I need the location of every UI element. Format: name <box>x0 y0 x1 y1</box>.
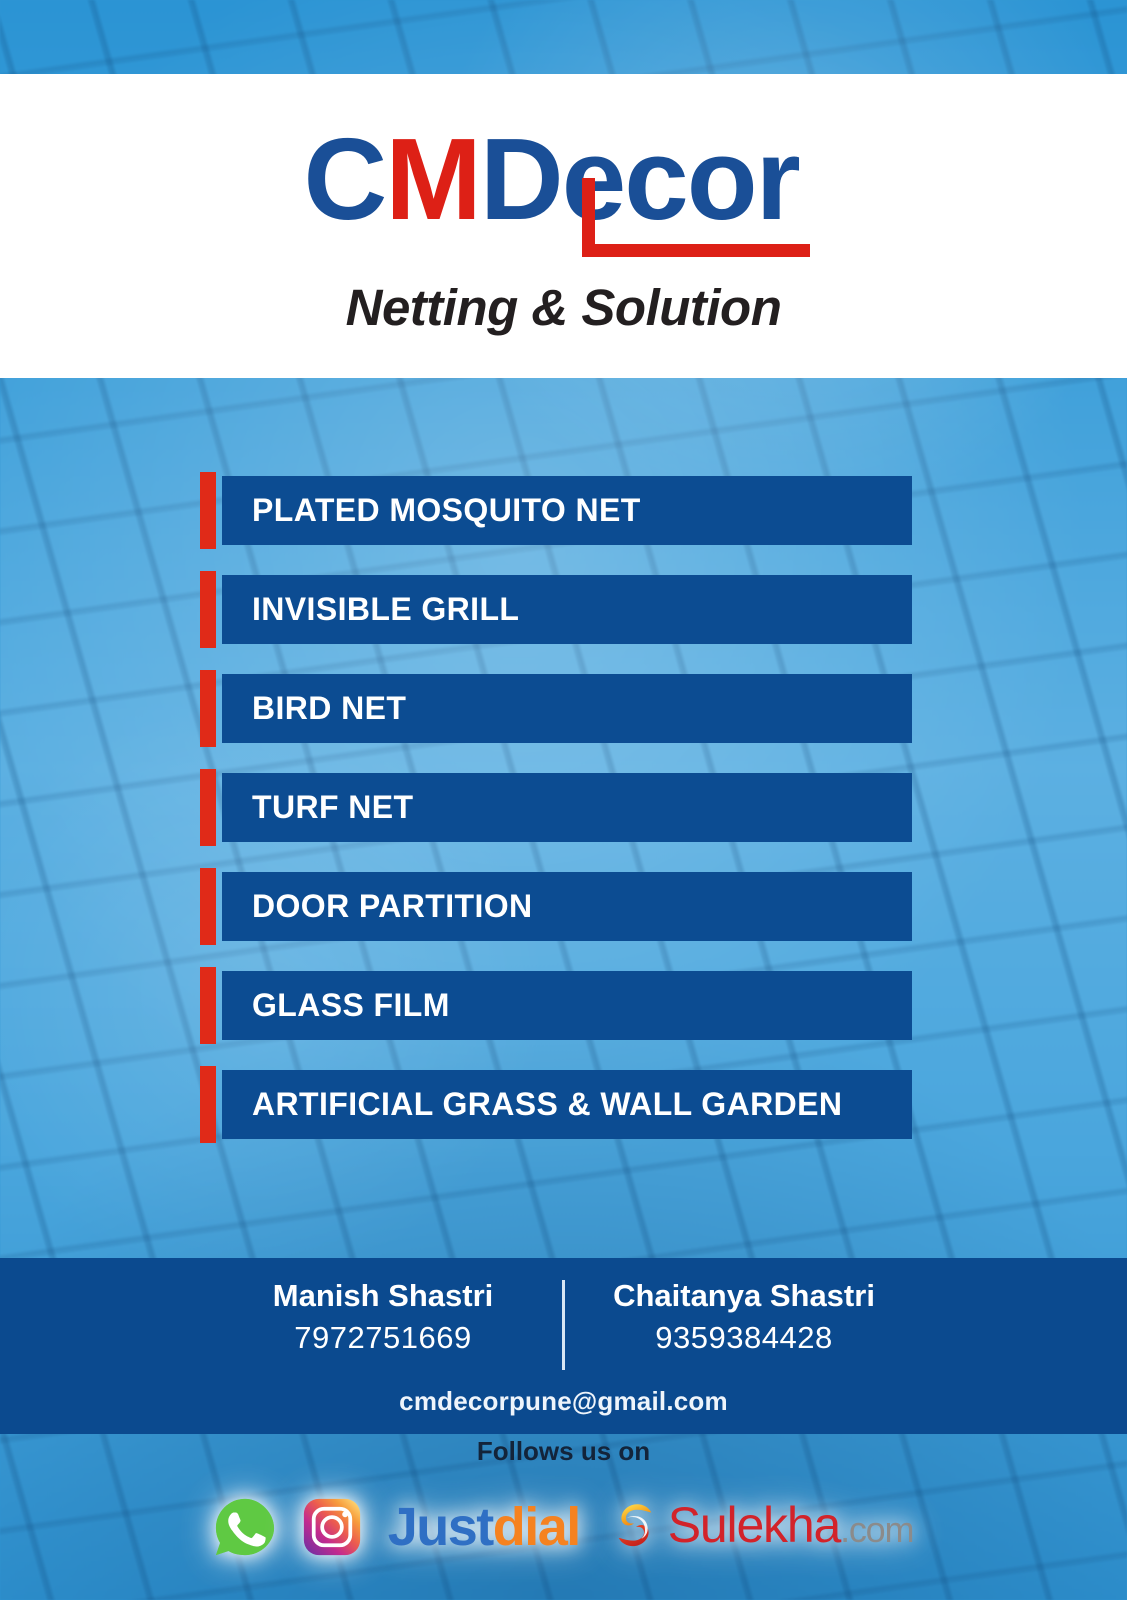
service-bar[interactable]: BIRD NET <box>222 674 912 743</box>
service-accent-bar <box>200 571 216 648</box>
service-accent-bar <box>200 472 216 549</box>
service-item[interactable]: INVISIBLE GRILL <box>200 575 912 644</box>
justdial-label-dial: dial <box>493 1499 580 1555</box>
service-label: DOOR PARTITION <box>222 888 533 925</box>
service-bar[interactable]: ARTIFICIAL GRASS & WALL GARDEN <box>222 1070 912 1139</box>
service-bar[interactable]: TURF NET <box>222 773 912 842</box>
contact-name: Manish Shastri <box>228 1276 538 1316</box>
service-accent-bar <box>200 868 216 945</box>
header-band: CMDecor Netting & Solution <box>0 74 1127 378</box>
justdial-label-just: Just <box>388 1499 493 1555</box>
follow-us-title: Follows us on <box>0 1436 1127 1467</box>
service-bar[interactable]: DOOR PARTITION <box>222 872 912 941</box>
contact-people: Manish Shastri 7972751669 Chaitanya Shas… <box>0 1276 1127 1370</box>
sulekha-wordmark: Sulekha.com <box>668 1499 914 1556</box>
service-item[interactable]: BIRD NET <box>200 674 912 743</box>
service-label: TURF NET <box>222 789 413 826</box>
service-label: PLATED MOSQUITO NET <box>222 492 641 529</box>
contact-person: Chaitanya Shastri 9359384428 <box>589 1276 899 1360</box>
social-links-row: Justdial Sulekh <box>0 1496 1127 1558</box>
service-accent-bar <box>200 1066 216 1143</box>
sulekha-label-domain: .com <box>840 1509 913 1550</box>
whatsapp-glyph <box>214 1496 276 1558</box>
justdial-icon[interactable]: Justdial <box>388 1499 580 1555</box>
service-item[interactable]: DOOR PARTITION <box>200 872 912 941</box>
contact-name: Chaitanya Shastri <box>589 1276 899 1316</box>
service-accent-bar <box>200 967 216 1044</box>
contact-divider <box>562 1280 565 1370</box>
sulekha-icon[interactable]: Sulekha.com <box>606 1498 914 1556</box>
service-item[interactable]: ARTIFICIAL GRASS & WALL GARDEN <box>200 1070 912 1139</box>
company-logo: CMDecor <box>304 116 824 266</box>
contact-person: Manish Shastri 7972751669 <box>228 1276 538 1360</box>
logo-wordmark: CMDecor <box>304 116 824 242</box>
service-label: BIRD NET <box>222 690 406 727</box>
instagram-glyph <box>302 1497 362 1557</box>
service-accent-bar <box>200 769 216 846</box>
service-item[interactable]: PLATED MOSQUITO NET <box>200 476 912 545</box>
service-label: GLASS FILM <box>222 987 450 1024</box>
logo-word-decor: Decor <box>480 114 799 244</box>
service-item[interactable]: TURF NET <box>200 773 912 842</box>
whatsapp-icon[interactable] <box>214 1496 276 1558</box>
services-list: PLATED MOSQUITO NET INVISIBLE GRILL BIRD… <box>200 476 912 1139</box>
contact-phone[interactable]: 9359384428 <box>589 1316 899 1360</box>
logo-red-underline <box>582 244 810 257</box>
service-bar[interactable]: PLATED MOSQUITO NET <box>222 476 912 545</box>
company-tagline: Netting & Solution <box>346 278 782 337</box>
service-item[interactable]: GLASS FILM <box>200 971 912 1040</box>
service-label: ARTIFICIAL GRASS & WALL GARDEN <box>222 1086 842 1123</box>
logo-letter-c: C <box>304 114 386 244</box>
logo-letter-m: M <box>385 114 480 244</box>
logo-red-stem <box>582 178 595 250</box>
sulekha-glyph <box>606 1498 664 1556</box>
instagram-icon[interactable] <box>302 1497 362 1557</box>
contact-phone[interactable]: 7972751669 <box>228 1316 538 1360</box>
contact-email[interactable]: cmdecorpune@gmail.com <box>0 1386 1127 1417</box>
service-label: INVISIBLE GRILL <box>222 591 519 628</box>
service-accent-bar <box>200 670 216 747</box>
contact-band: Manish Shastri 7972751669 Chaitanya Shas… <box>0 1258 1127 1434</box>
sulekha-label-name: Sulekha <box>668 1497 840 1553</box>
poster-root: CMDecor Netting & Solution PLATED MOSQUI… <box>0 0 1127 1600</box>
service-bar[interactable]: INVISIBLE GRILL <box>222 575 912 644</box>
service-bar[interactable]: GLASS FILM <box>222 971 912 1040</box>
